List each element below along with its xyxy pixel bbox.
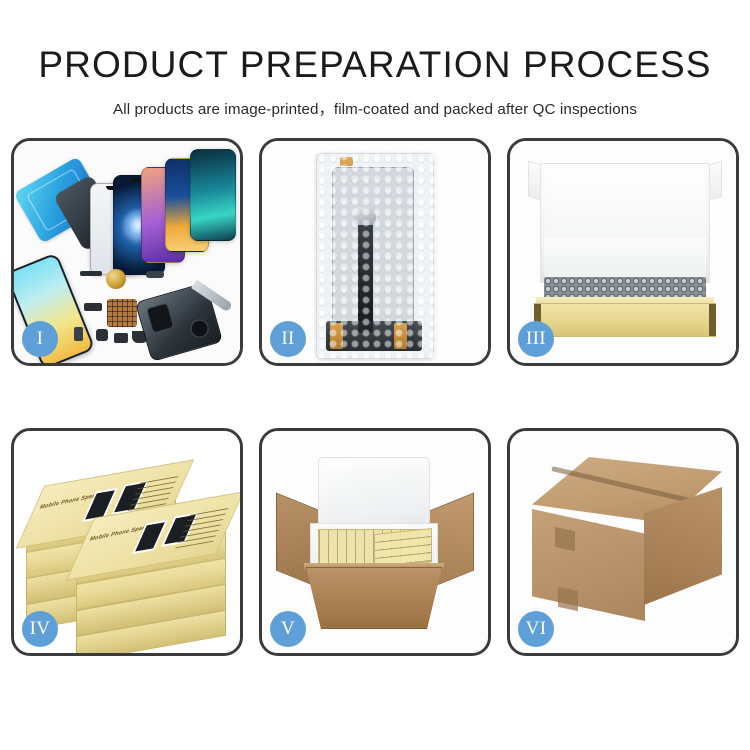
step-badge-6: VI xyxy=(518,611,554,647)
tape-icon xyxy=(394,323,407,349)
step-panel-5: V xyxy=(259,428,491,656)
step-panel-6: VI xyxy=(507,428,739,656)
step-panel-3: III xyxy=(507,138,739,366)
step-badge-3: III xyxy=(518,321,554,357)
phone-screen-icon-5 xyxy=(190,149,236,241)
step-panel-4: Mobile Phone Spare Parts Mobile Phone Sp… xyxy=(11,428,243,656)
page-header: PRODUCT PREPARATION PROCESS All products… xyxy=(0,0,750,119)
page-title: PRODUCT PREPARATION PROCESS xyxy=(0,44,750,86)
step-badge-1: I xyxy=(22,321,58,357)
step-panel-1: I xyxy=(11,138,243,366)
component-part-icon xyxy=(146,271,164,278)
foam-lid-icon xyxy=(318,457,430,527)
component-part-icon xyxy=(80,271,102,276)
foam-insert-icon xyxy=(544,237,706,279)
component-part-icon xyxy=(96,329,108,341)
carton-tape-icon xyxy=(555,527,575,551)
speaker-coil-icon xyxy=(106,269,126,289)
carton-front-icon xyxy=(306,567,442,629)
carton-tape-icon xyxy=(558,587,578,611)
step-panel-2: II xyxy=(259,138,491,366)
component-part-icon xyxy=(114,333,128,343)
tape-icon xyxy=(340,157,353,166)
step-badge-4: IV xyxy=(22,611,58,647)
step-badge-2: II xyxy=(270,321,306,357)
wrapped-screen-icon xyxy=(332,167,414,345)
box-stack: Mobile Phone Spare Parts Mobile Phone Sp… xyxy=(20,453,238,643)
box-window-icon xyxy=(132,520,168,554)
page-subtitle: All products are image-printed，film-coat… xyxy=(0,97,750,119)
driver-ic-icon xyxy=(354,207,376,225)
component-part-icon xyxy=(84,303,102,311)
carton-front-face-icon xyxy=(532,509,645,621)
component-part-icon xyxy=(74,327,83,341)
flex-cable-icon xyxy=(358,213,373,333)
tape-icon xyxy=(330,323,343,349)
process-steps-grid: I II xyxy=(11,138,739,686)
product-preparation-page: PRODUCT PREPARATION PROCESS All products… xyxy=(0,0,750,750)
kraft-box-front-icon xyxy=(534,303,716,337)
chip-grid-icon xyxy=(107,299,137,327)
step-badge-5: V xyxy=(270,611,306,647)
